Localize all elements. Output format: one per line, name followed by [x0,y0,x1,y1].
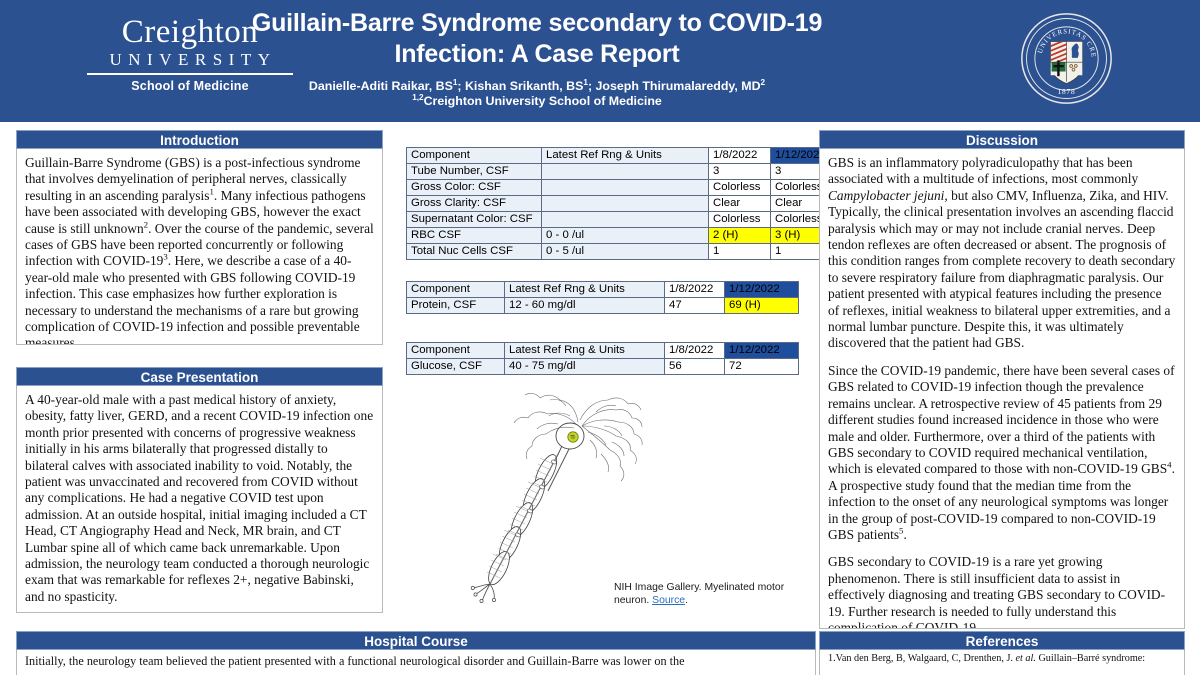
cell-value-date-1: 3 [709,164,771,180]
reference-item-1: 1.Van den Berg, B, Walgaard, C, Drenthen… [828,653,1176,666]
section-heading-case-presentation: Case Presentation [16,367,383,386]
title-block: Guillain-Barre Syndrome secondary to COV… [232,8,842,109]
col-header-date-1: 1/8/2022 [665,282,725,298]
cell-ref-range [542,164,709,180]
cell-value-date-1: 56 [665,359,725,375]
table-row: Protein, CSF 12 - 60 mg/dl 47 69 (H) [407,298,799,314]
affiliation-line: 1,2Creighton University School of Medici… [232,94,842,109]
seal-year-text: 1878 [1058,87,1076,96]
cell-ref-range: 12 - 60 mg/dl [505,298,665,314]
section-body-discussion: GBS is an inflammatory polyradiculopathy… [819,149,1185,629]
discussion-p1-pre: GBS is an inflammatory polyradiculopathy… [828,155,1138,186]
figure-caption-period: . [685,595,688,606]
section-hospital-course: Hospital Course Initially, the neurology… [16,631,816,675]
col-header-ref-range: Latest Ref Rng & Units [505,282,665,298]
discussion-paragraph-2: Since the COVID-19 pandemic, there have … [828,363,1176,543]
table-row: Gross Color: CSF Colorless Colorless [407,180,837,196]
cell-ref-range: 40 - 75 mg/dl [505,359,665,375]
discussion-paragraph-1: GBS is an inflammatory polyradiculopathy… [828,155,1176,352]
cell-component: Glucose, CSF [407,359,505,375]
section-body-hospital-course: Initially, the neurology team believed t… [16,650,816,675]
cell-component: Gross Clarity: CSF [407,196,542,212]
cell-component: Tube Number, CSF [407,164,542,180]
col-header-ref-range: Latest Ref Rng & Units [505,343,665,359]
header-accent-strip [0,116,1200,122]
introduction-paragraph-1: Guillain-Barre Syndrome (GBS) is a post-… [25,155,374,345]
case-presentation-text: A 40-year-old male with a past medical h… [25,392,374,605]
cell-value-date-1: Colorless [709,212,771,228]
cell-value-date-1: 47 [665,298,725,314]
creighton-seal-icon: UNIVERSITAS CREIGHTONIANA [1020,12,1113,105]
section-body-case-presentation: A 40-year-old male with a past medical h… [16,386,383,613]
cell-component: Gross Color: CSF [407,180,542,196]
col-header-component: Component [407,343,505,359]
col-header-date-2: 1/12/2022 [725,343,799,359]
table-csf-panel: Component Latest Ref Rng & Units 1/8/202… [406,147,837,260]
cell-component: Protein, CSF [407,298,505,314]
myelinated-motor-neuron-figure [470,392,670,604]
col-header-date-1: 1/8/2022 [709,148,771,164]
section-heading-hospital-course: Hospital Course [16,631,816,650]
references-text: 1.Van den Berg, B, Walgaard, C, Drenthen… [828,653,1176,666]
figure-caption-text: NIH Image Gallery. Myelinated motor neur… [614,582,784,606]
col-header-component: Component [407,282,505,298]
neuron-diagram-icon [470,392,670,604]
section-introduction: Introduction Guillain-Barre Syndrome (GB… [16,130,383,345]
table-csf-glucose: Component Latest Ref Rng & Units 1/8/202… [406,342,799,375]
table-row: RBC CSF 0 - 0 /ul 2 (H) 3 (H) [407,228,837,244]
table-header-row: Component Latest Ref Rng & Units 1/8/202… [407,343,799,359]
col-header-date-2: 1/12/2022 [725,282,799,298]
section-references: References 1.Van den Berg, B, Walgaard, … [819,631,1185,675]
col-header-date-1: 1/8/2022 [665,343,725,359]
case-presentation-paragraph-1: A 40-year-old male with a past medical h… [25,392,374,605]
hospital-course-paragraph-1: Initially, the neurology team believed t… [25,654,807,669]
table-header-row: Component Latest Ref Rng & Units 1/8/202… [407,282,799,298]
cell-value-date-2: 72 [725,359,799,375]
discussion-text: GBS is an inflammatory polyradiculopathy… [828,155,1176,629]
cell-ref-range [542,196,709,212]
section-heading-discussion: Discussion [819,130,1185,149]
cell-ref-range [542,180,709,196]
cell-value-date-1: 1 [709,244,771,260]
cell-value-date-1: Clear [709,196,771,212]
section-heading-introduction: Introduction [16,130,383,149]
cell-component: Supernatant Color: CSF [407,212,542,228]
poster-header-banner: Creighton UNIVERSITY School of Medicine … [0,0,1200,116]
table-row: Gross Clarity: CSF Clear Clear [407,196,837,212]
table-row: Tube Number, CSF 3 3 [407,164,837,180]
section-body-references: 1.Van den Berg, B, Walgaard, C, Drenthen… [819,650,1185,675]
section-heading-references: References [819,631,1185,650]
discussion-paragraph-3: GBS secondary to COVID-19 is a rare yet … [828,554,1176,629]
author-list: Danielle-Aditi Raikar, BS1; Kishan Srika… [232,79,842,94]
cell-value-date-1-abnormal: 2 (H) [709,228,771,244]
col-header-component: Component [407,148,542,164]
cell-component: RBC CSF [407,228,542,244]
table-header-row: Component Latest Ref Rng & Units 1/8/202… [407,148,837,164]
cell-value-date-2-abnormal: 69 (H) [725,298,799,314]
cell-value-date-1: Colorless [709,180,771,196]
table-row: Supernatant Color: CSF Colorless Colorle… [407,212,837,228]
page-title: Guillain-Barre Syndrome secondary to COV… [232,8,842,70]
poster-canvas: Creighton UNIVERSITY School of Medicine … [0,0,1200,675]
col-header-ref-range: Latest Ref Rng & Units [542,148,709,164]
table-csf-protein: Component Latest Ref Rng & Units 1/8/202… [406,281,799,314]
cell-ref-range: 0 - 5 /ul [542,244,709,260]
cell-component: Total Nuc Cells CSF [407,244,542,260]
section-discussion: Discussion GBS is an inflammatory polyra… [819,130,1185,629]
introduction-text: Guillain-Barre Syndrome (GBS) is a post-… [25,155,374,345]
discussion-p1-post: but also CMV, Influenza, Zika, and HIV. … [828,188,1175,351]
cell-ref-range: 0 - 0 /ul [542,228,709,244]
figure-source-link[interactable]: Source [652,595,685,606]
hospital-course-text: Initially, the neurology team believed t… [25,654,807,669]
section-body-introduction: Guillain-Barre Syndrome (GBS) is a post-… [16,149,383,345]
section-case-presentation: Case Presentation A 40-year-old male wit… [16,367,383,613]
table-row: Glucose, CSF 40 - 75 mg/dl 56 72 [407,359,799,375]
discussion-p1-species: Campylobacter jejuni, [828,188,948,203]
table-row: Total Nuc Cells CSF 0 - 5 /ul 1 1 [407,244,837,260]
cell-ref-range [542,212,709,228]
figure-caption: NIH Image Gallery. Myelinated motor neur… [614,582,804,607]
